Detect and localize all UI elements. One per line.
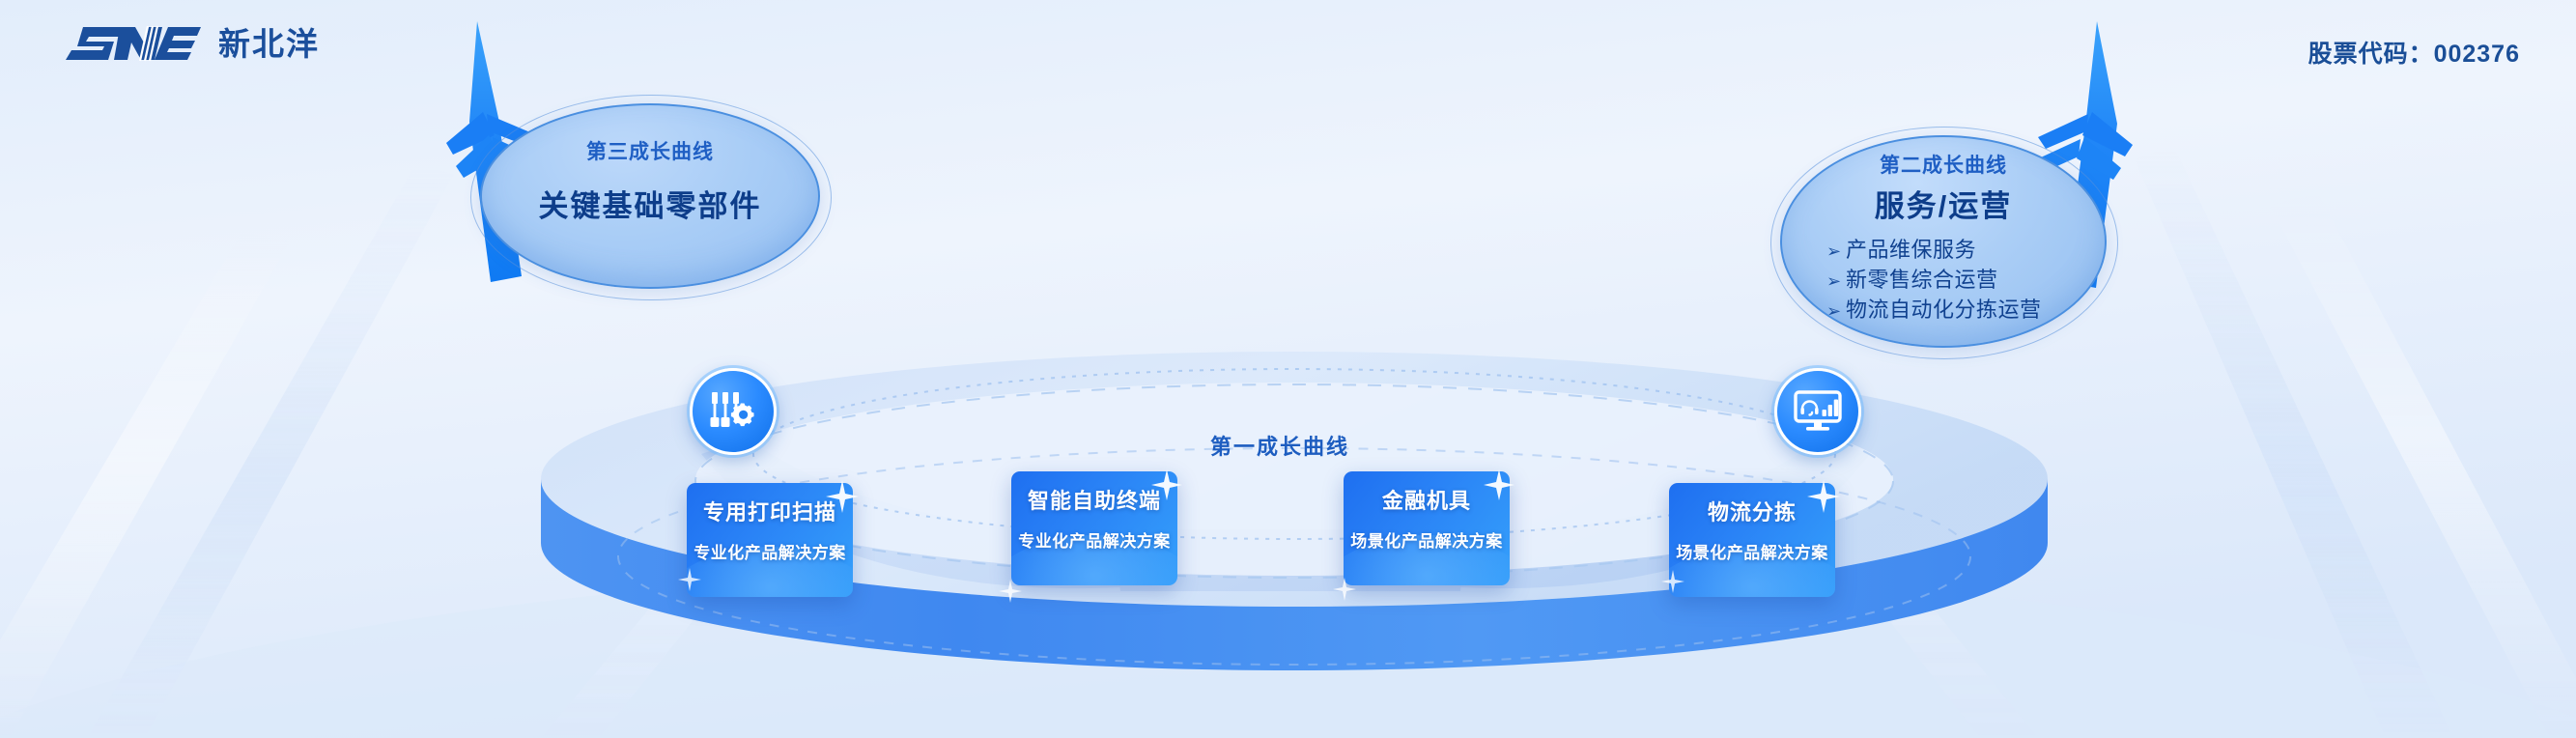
chevron-right-icon: ➢ xyxy=(1826,270,1846,295)
card-text: 物流分拣 场景化产品解决方案 xyxy=(1669,502,1835,561)
product-card[interactable]: 智能自助终端 专业化产品解决方案 xyxy=(1011,471,1177,585)
third-growth-curve-bubble[interactable]: 第三成长曲线 关键基础零部件 xyxy=(480,103,820,289)
third-curve-title: 关键基础零部件 xyxy=(482,191,818,221)
product-card[interactable]: 物流分拣 场景化产品解决方案 xyxy=(1669,483,1835,597)
product-card[interactable]: 金融机具 场景化产品解决方案 xyxy=(1344,471,1510,585)
sliders-gear-icon xyxy=(709,388,757,435)
card-title: 智能自助终端 xyxy=(1011,491,1177,512)
card-title: 专用打印扫描 xyxy=(687,502,853,524)
card-text: 智能自助终端 专业化产品解决方案 xyxy=(1011,491,1177,550)
third-curve-badge[interactable] xyxy=(690,368,777,455)
second-curve-bullet-list: ➢产品维保服务 ➢新零售综合运营 ➢物流自动化分拣运营 xyxy=(1782,235,2105,326)
chevron-right-icon: ➢ xyxy=(1826,240,1846,265)
card-text: 专用打印扫描 专业化产品解决方案 xyxy=(687,502,853,561)
growth-curve-scene xyxy=(0,0,2576,738)
third-curve-kicker: 第三成长曲线 xyxy=(482,142,818,162)
product-card[interactable]: 专用打印扫描 专业化产品解决方案 xyxy=(687,483,853,597)
card-subtitle: 场景化产品解决方案 xyxy=(1669,545,1835,561)
card-subtitle: 专业化产品解决方案 xyxy=(1011,533,1177,550)
second-growth-curve-bubble[interactable]: 第二成长曲线 服务/运营 ➢产品维保服务 ➢新零售综合运营 ➢物流自动化分拣运营 xyxy=(1780,135,2107,348)
infographic-canvas: 新北洋 股票代码：002376 xyxy=(0,0,2576,738)
card-text: 金融机具 场景化产品解决方案 xyxy=(1344,491,1510,550)
card-subtitle: 场景化产品解决方案 xyxy=(1344,533,1510,550)
first-growth-curve-label: 第一成长曲线 xyxy=(1210,430,1349,461)
card-title: 金融机具 xyxy=(1344,491,1510,512)
second-curve-title: 服务/运营 xyxy=(1782,191,2105,221)
list-item: ➢产品维保服务 xyxy=(1826,235,2105,265)
monitor-headset-chart-icon xyxy=(1794,389,1842,434)
card-subtitle: 专业化产品解决方案 xyxy=(687,545,853,561)
list-item: ➢新零售综合运营 xyxy=(1826,265,2105,295)
second-curve-badge[interactable] xyxy=(1774,368,1861,455)
card-title: 物流分拣 xyxy=(1669,502,1835,524)
